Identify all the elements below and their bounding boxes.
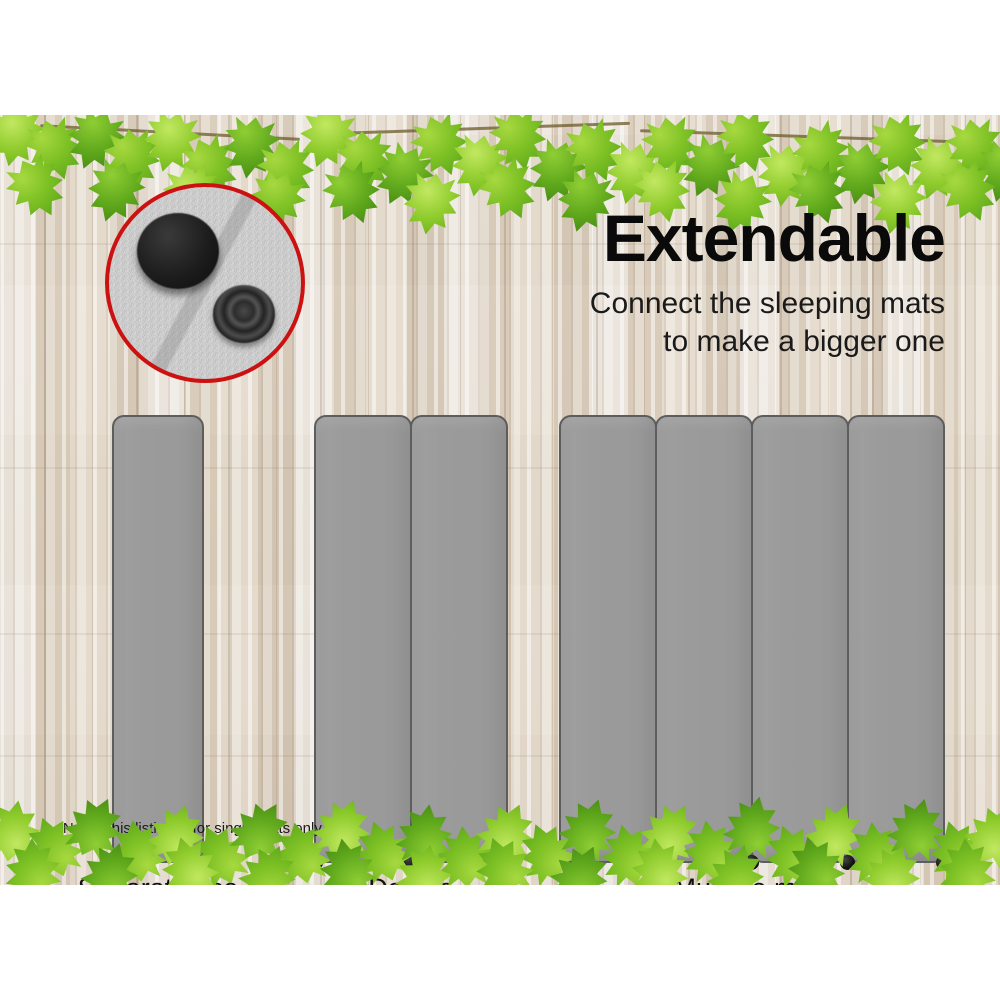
leaf [251,135,322,209]
mat [559,415,657,863]
mat [112,415,204,863]
snap-dot [195,855,210,870]
leaf [315,155,391,233]
vine-stem [40,124,300,141]
snap-button-detail-circle [105,183,305,383]
leaf [783,115,862,195]
mat [410,415,508,863]
headline-block: Extendable Connect the sleeping mats to … [525,205,945,362]
snap-button-socket-icon [213,285,275,343]
mat [847,415,945,863]
page-title: Extendable [525,205,945,271]
leaf [520,134,594,211]
leaf [135,115,208,180]
leaf [899,131,975,209]
snap-dot [840,855,855,870]
leaf [637,115,705,184]
subtitle-line-2: to make a bigger one [525,323,945,361]
leaf [670,128,748,208]
leaf [942,115,1000,185]
leaf [597,137,668,211]
mat-group-separate [112,415,204,863]
leaf [363,135,442,216]
leaf [403,115,479,185]
leaf [56,115,133,180]
mat-group-label-separate: Separate use [18,873,298,885]
leaf [862,115,936,184]
mat-group-double [314,415,508,863]
leaf [484,115,554,176]
snap-dot [403,855,418,870]
wood-background-scene: Extendable Connect the sleeping mats to … [0,115,1000,885]
snap-dot [648,855,663,870]
leaf [0,115,50,172]
leaf [333,128,397,196]
subtitle-line-1: Connect the sleeping mats [525,285,945,323]
leaf [955,794,1000,875]
mat-group-multiple [559,415,947,863]
leaf [18,115,92,188]
snap-dot [106,855,121,870]
vine-stem [640,129,970,144]
snap-dot [308,855,323,870]
vine-stem [330,122,630,135]
mat [655,415,753,863]
leaf [968,135,1000,210]
mat-group-label-double: Double [271,873,551,885]
leaf [711,115,784,180]
mat [751,415,849,863]
promo-image-canvas: Extendable Connect the sleeping mats to … [0,0,1000,1000]
leaf [556,115,633,192]
snap-dot [936,855,951,870]
leaf [0,147,77,229]
leaf [289,115,365,177]
mat-group-label-multiple: Multiple mats [613,873,893,885]
leaf [397,168,465,239]
snap-dot [553,855,568,870]
snap-dot [744,855,759,870]
leaf [218,115,285,183]
footnote-text: *Note: This listing is for single mats o… [57,820,325,837]
leaf [445,130,513,201]
mat [314,415,412,863]
leaf [0,795,47,866]
leaf [100,125,166,194]
snap-button-cap-icon [137,213,219,289]
leaf [826,138,896,211]
snap-dot [499,855,514,870]
